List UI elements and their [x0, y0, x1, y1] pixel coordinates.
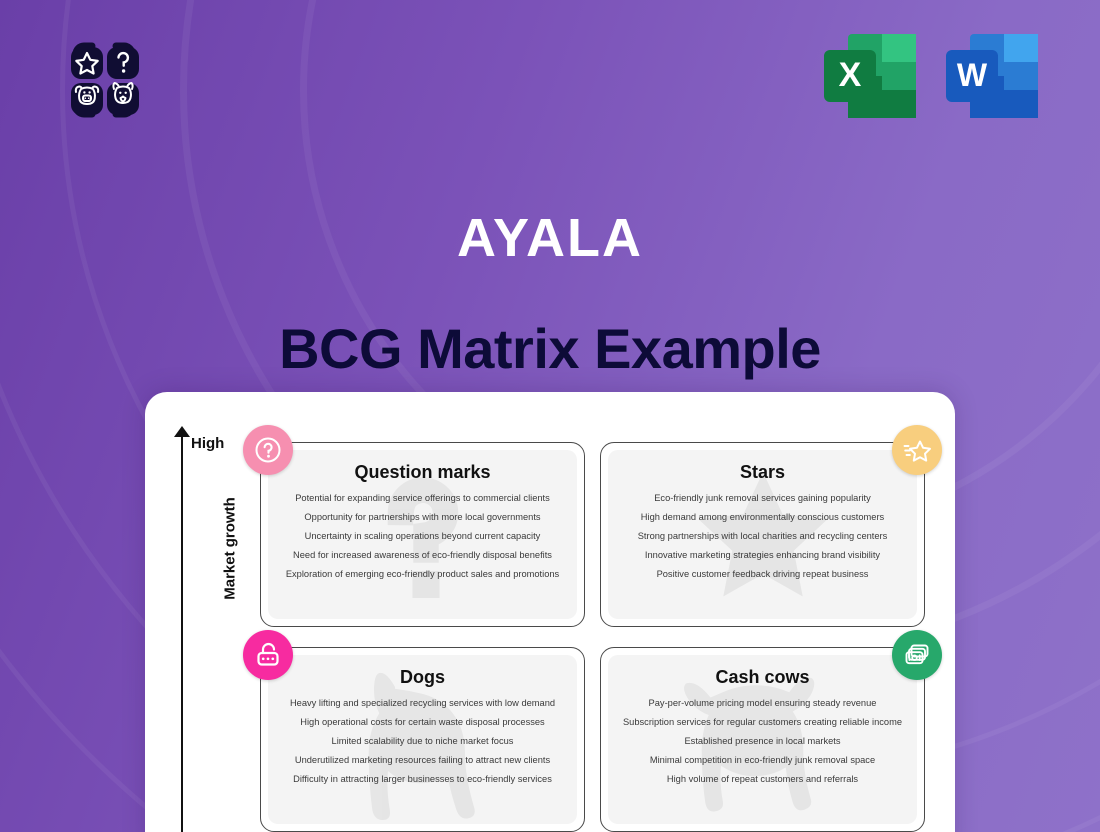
list-item: Heavy lifting and specialized recycling … — [282, 698, 563, 708]
quadrant-items: Eco-friendly junk removal services gaini… — [622, 493, 903, 579]
list-item: Eco-friendly junk removal services gaini… — [622, 493, 903, 503]
bcg-matrix-grid: Question marks Potential for expanding s… — [260, 442, 925, 832]
quadrant-items: Heavy lifting and specialized recycling … — [282, 698, 563, 784]
banknotes-icon[interactable] — [892, 630, 942, 680]
list-item: Uncertainty in scaling operations beyond… — [282, 531, 563, 541]
quadrant-panel: Question marks Potential for expanding s… — [268, 450, 577, 619]
list-item: Potential for expanding service offering… — [282, 493, 563, 503]
list-item: Subscription services for regular custom… — [622, 717, 903, 727]
list-item: High demand among environmentally consci… — [622, 512, 903, 522]
svg-text:W: W — [957, 57, 988, 93]
question-mark-icon[interactable] — [243, 425, 293, 475]
y-axis-line — [181, 432, 183, 832]
quadrant-stars[interactable]: Stars Eco-friendly junk removal services… — [600, 442, 925, 627]
quadrant-title: Question marks — [282, 462, 563, 483]
quadrant-panel: Dogs Heavy lifting and specialized recyc… — [268, 655, 577, 824]
list-item: Opportunity for partnerships with more l… — [282, 512, 563, 522]
quadrant-question-marks[interactable]: Question marks Potential for expanding s… — [260, 442, 585, 627]
star-icon[interactable] — [892, 425, 942, 475]
quadrant-title: Dogs — [282, 667, 563, 688]
list-item: Established presence in local markets — [622, 736, 903, 746]
list-item: Pay-per-volume pricing model ensuring st… — [622, 698, 903, 708]
list-item: Difficulty in attracting larger business… — [282, 774, 563, 784]
slide-canvas: X W AYALA BCG Matrix Example High Market… — [0, 0, 1100, 832]
word-icon[interactable]: W — [940, 28, 1044, 124]
list-item: Positive customer feedback driving repea… — [622, 569, 903, 579]
axis-y-label: Market growth — [222, 484, 239, 614]
list-item: Strong partnerships with local charities… — [622, 531, 903, 541]
page-title: BCG Matrix Example — [0, 315, 1100, 383]
excel-icon[interactable]: X — [818, 28, 922, 124]
list-item: Exploration of emerging eco-friendly pro… — [282, 569, 563, 579]
list-item: Need for increased awareness of eco-frie… — [282, 550, 563, 560]
quadrant-title: Cash cows — [622, 667, 903, 688]
quadrant-cash-cows[interactable]: Cash cows Pay-per-volume pricing model e… — [600, 647, 925, 832]
quadrant-items: Potential for expanding service offering… — [282, 493, 563, 579]
quadrant-panel: Cash cows Pay-per-volume pricing model e… — [608, 655, 917, 824]
list-item: Innovative marketing strategies enhancin… — [622, 550, 903, 560]
axis-high-label: High — [191, 435, 224, 452]
quadrant-items: Pay-per-volume pricing model ensuring st… — [622, 698, 903, 784]
quadrant-title: Stars — [622, 462, 903, 483]
open-padlock-icon[interactable] — [243, 630, 293, 680]
quadrant-dogs[interactable]: Dogs Heavy lifting and specialized recyc… — [260, 647, 585, 832]
quad-scan-logo-icon — [54, 30, 154, 130]
brand-name: AYALA — [0, 208, 1100, 268]
svg-text:X: X — [839, 56, 862, 94]
list-item: Minimal competition in eco-friendly junk… — [622, 755, 903, 765]
quadrant-panel: Stars Eco-friendly junk removal services… — [608, 450, 917, 619]
list-item: High volume of repeat customers and refe… — [622, 774, 903, 784]
list-item: Underutilized marketing resources failin… — [282, 755, 563, 765]
list-item: High operational costs for certain waste… — [282, 717, 563, 727]
list-item: Limited scalability due to niche market … — [282, 736, 563, 746]
